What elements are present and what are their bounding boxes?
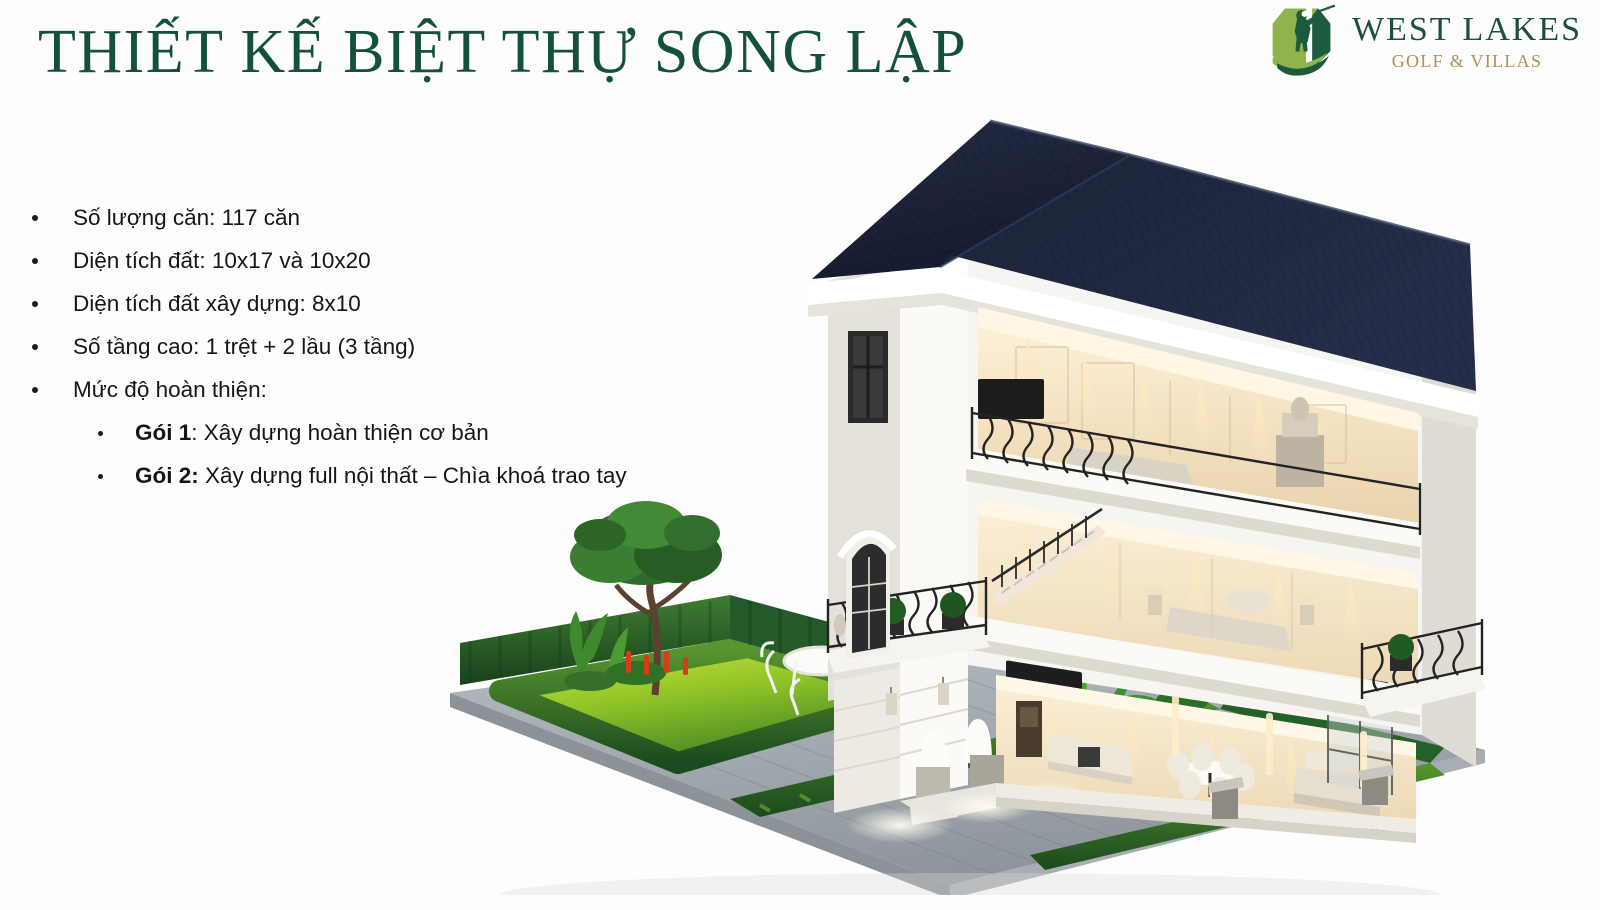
list-item-label: Số lượng căn: 117 căn (73, 204, 300, 231)
list-item-label: Diện tích đất: 10x17 và 10x20 (73, 247, 371, 274)
brand-logo-text: WEST LAKES GOLF & VILLAS (1352, 13, 1582, 70)
list-item-label: Diện tích đất xây dựng: 8x10 (73, 290, 361, 317)
package-1-label: Gói 1 (135, 420, 191, 445)
bullet-dot-icon (32, 301, 38, 307)
package-2-label: Gói 2: (135, 463, 199, 488)
list-item-label: Mức độ hoàn thiện: (73, 376, 267, 403)
brand-logo: WEST LAKES GOLF & VILLAS (1262, 4, 1582, 78)
west-lakes-golfer-emblem-icon (1262, 4, 1338, 78)
brand-name: WEST LAKES (1352, 13, 1582, 47)
bullet-dot-icon (98, 431, 103, 436)
bullet-dot-icon (32, 344, 38, 350)
slide-canvas: THIẾT KẾ BIỆT THỰ SONG LẬP (0, 0, 1600, 910)
bullet-dot-icon (32, 215, 38, 221)
bullet-dot-icon (32, 258, 38, 264)
bullet-dot-icon (32, 387, 38, 393)
arched-window (846, 536, 890, 659)
list-item-label: Số tầng cao: 1 trệt + 2 lầu (3 tầng) (73, 333, 415, 360)
villa-cutaway-3d-render (430, 95, 1505, 895)
bullet-dot-icon (98, 474, 103, 479)
brand-subtitle: GOLF & VILLAS (1392, 52, 1543, 70)
page-title: THIẾT KẾ BIỆT THỰ SONG LẬP (38, 20, 967, 85)
